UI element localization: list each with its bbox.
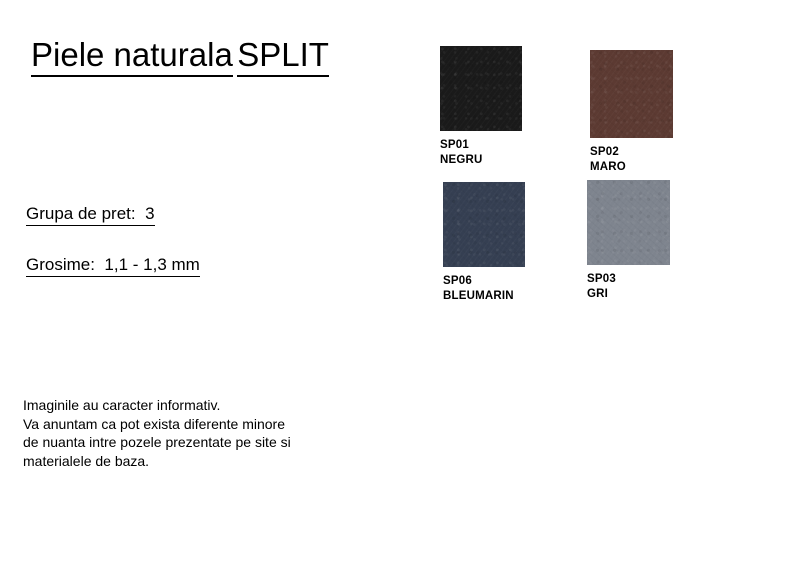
- swatch-colour-name: MARO: [590, 160, 673, 175]
- page-title-line-1: Piele naturala: [31, 36, 233, 77]
- disclaimer-line-1: Imaginile au caracter informativ.: [23, 396, 291, 415]
- disclaimer-text: Imaginile au caracter informativ. Va anu…: [23, 396, 291, 470]
- swatch-code: SP02: [590, 145, 673, 160]
- swatch-colour-name: NEGRU: [440, 153, 522, 168]
- swatch-label: SP02MARO: [590, 145, 673, 174]
- disclaimer-line-3: de nuanta intre pozele prezentate pe sit…: [23, 433, 291, 452]
- swatch-code: SP01: [440, 138, 522, 153]
- colour-swatch-sp01[interactable]: SP01NEGRU: [440, 46, 522, 167]
- colour-swatch-sp06[interactable]: SP06BLEUMARIN: [443, 182, 525, 303]
- page-title: Piele naturala SPLIT: [31, 31, 329, 77]
- colour-swatch-sp03[interactable]: SP03GRI: [587, 180, 670, 301]
- swatch-colour-chip: [443, 182, 525, 267]
- colour-swatch-sp02[interactable]: SP02MARO: [590, 50, 673, 174]
- swatch-code: SP06: [443, 274, 525, 289]
- swatch-colour-name: BLEUMARIN: [443, 289, 525, 304]
- leather-colour-chart-page: Piele naturala SPLIT Grupa de pret: 3 Gr…: [0, 0, 800, 566]
- spec-thickness: Grosime: 1,1 - 1,3 mm: [26, 254, 200, 277]
- swatch-colour-chip: [440, 46, 522, 131]
- swatch-label: SP01NEGRU: [440, 138, 522, 167]
- swatch-colour-chip: [587, 180, 670, 265]
- swatch-colour-chip: [590, 50, 673, 138]
- disclaimer-line-4: materialele de baza.: [23, 452, 291, 471]
- page-title-line-2: SPLIT: [237, 36, 329, 77]
- swatch-label: SP06BLEUMARIN: [443, 274, 525, 303]
- disclaimer-line-2: Va anuntam ca pot exista diferente minor…: [23, 415, 291, 434]
- spec-price-group: Grupa de pret: 3: [26, 203, 155, 226]
- swatch-code: SP03: [587, 272, 670, 287]
- swatch-colour-name: GRI: [587, 287, 670, 302]
- swatch-label: SP03GRI: [587, 272, 670, 301]
